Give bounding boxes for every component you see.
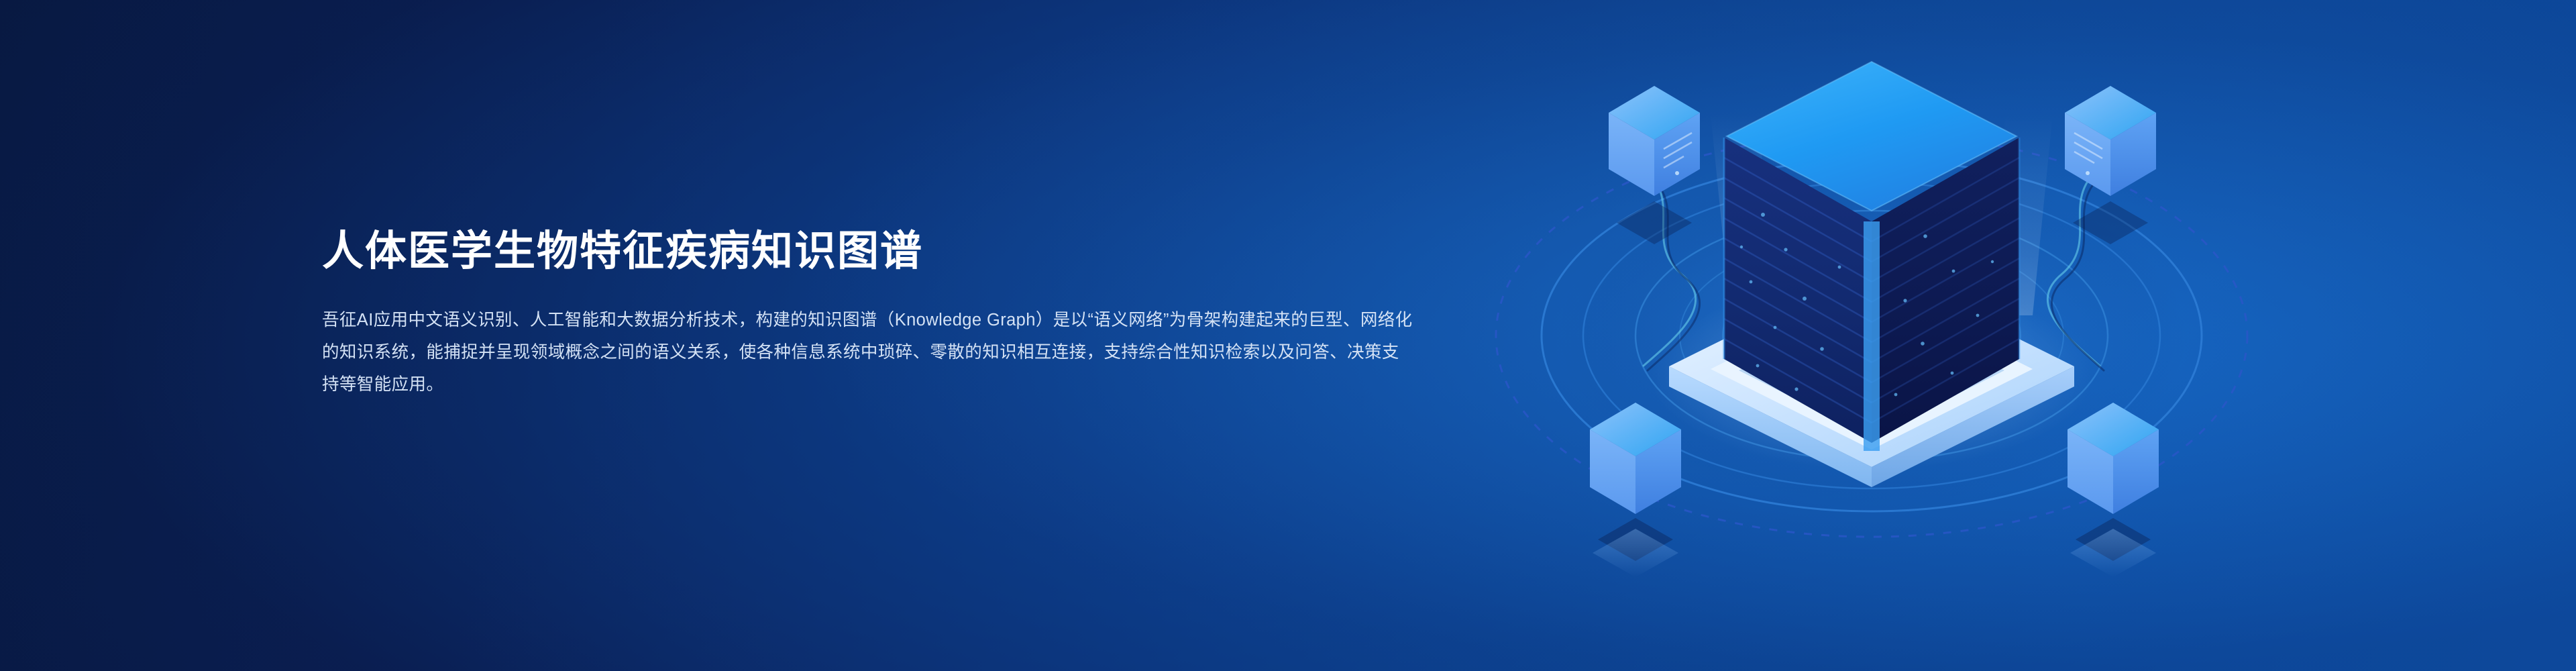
page-description: 吾征AI应用中文语义识别、人工智能和大数据分析技术，构建的知识图谱（Knowle… xyxy=(322,304,1415,401)
node-top-left xyxy=(1609,86,1700,244)
node-bottom-left xyxy=(1590,403,1681,577)
page-title: 人体医学生物特征疾病知识图谱 xyxy=(322,228,1422,274)
node-top-right xyxy=(2065,86,2156,244)
hero-text-block: 人体医学生物特征疾病知识图谱 吾征AI应用中文语义识别、人工智能和大数据分析技术… xyxy=(322,228,1422,401)
node-bottom-right xyxy=(2068,403,2159,577)
hero-banner: 人体医学生物特征疾病知识图谱 吾征AI应用中文语义识别、人工智能和大数据分析技术… xyxy=(0,0,2576,671)
knowledge-graph-illustration xyxy=(1442,0,2381,671)
